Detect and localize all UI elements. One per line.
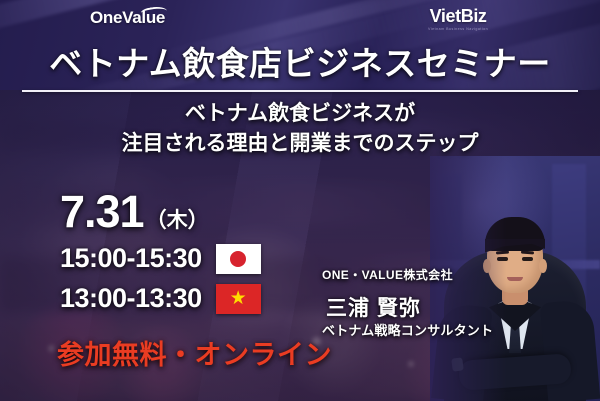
title-divider [22,90,578,92]
seminar-banner: OneValue VietBiz Vietnam Business Naviga… [0,0,600,401]
vietbiz-logo-text: VietBiz [428,7,488,25]
japan-flag-icon [216,244,261,274]
event-date: 7.31（木） [60,186,209,238]
subtitle-line-2: 注目される理由と開業までのステップ [0,129,600,159]
session-row-vietnam: 13:00-13:30 ★ [60,283,261,314]
subtitle: ベトナム飲食ビジネスが 注目される理由と開業までのステップ [0,99,600,159]
star-icon: ★ [230,289,247,308]
cta-text: 参加無料・オンライン [57,333,332,372]
event-date-day-of-week: （木） [146,209,209,232]
speaker-photo-edge-fade [430,156,600,401]
speaker-photo [430,156,600,401]
subtitle-line-1: ベトナム飲食ビジネスが [0,99,600,129]
session-row-japan: 15:00-15:30 [60,243,261,274]
swoosh-icon [141,3,167,13]
vietbiz-logo-tagline: Vietnam Business Navigation [428,27,488,31]
event-date-number: 7.31 [60,186,144,237]
session-time-japan: 15:00-15:30 [60,243,202,274]
onevalue-logo: OneValue [90,8,165,28]
speaker-company: ONE・VALUE株式会社 [322,266,453,283]
vietbiz-logo: VietBiz Vietnam Business Navigation [428,7,488,31]
page-title: ベトナム飲食店ビジネスセミナー [0,37,600,85]
speaker-role: ベトナム戦略コンサルタント [322,320,493,339]
vietnam-flag-icon: ★ [216,284,261,314]
speaker-name: 三浦 賢弥 [326,292,421,322]
session-time-vietnam: 13:00-13:30 [60,283,202,314]
